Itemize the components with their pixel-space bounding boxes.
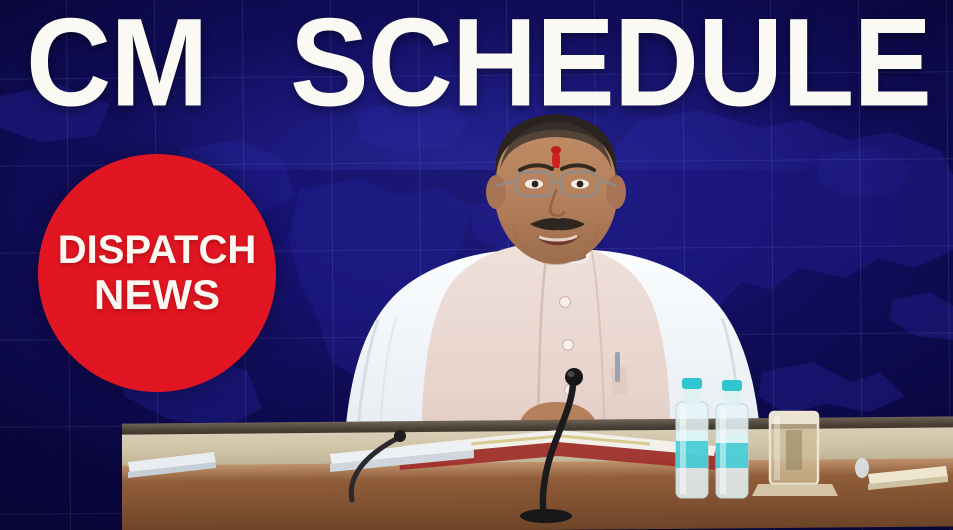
news-thumbnail-graphic: CM SCHEDULE DISPATCH NEWS	[0, 0, 953, 530]
title-word-cm: CM	[26, 0, 208, 125]
paper-stack-right	[855, 458, 948, 490]
badge-line-dispatch: DISPATCH	[58, 229, 257, 272]
paper-stack-far-left	[128, 452, 216, 478]
water-bottle-1	[676, 378, 708, 498]
water-bottle-2	[716, 380, 748, 498]
drinking-glass	[752, 412, 838, 496]
title-word-schedule: SCHEDULE	[290, 0, 931, 125]
dispatch-news-badge[interactable]: DISPATCH NEWS	[38, 154, 276, 392]
badge-line-news: NEWS	[94, 272, 220, 317]
page-title: CM SCHEDULE	[26, 2, 931, 124]
